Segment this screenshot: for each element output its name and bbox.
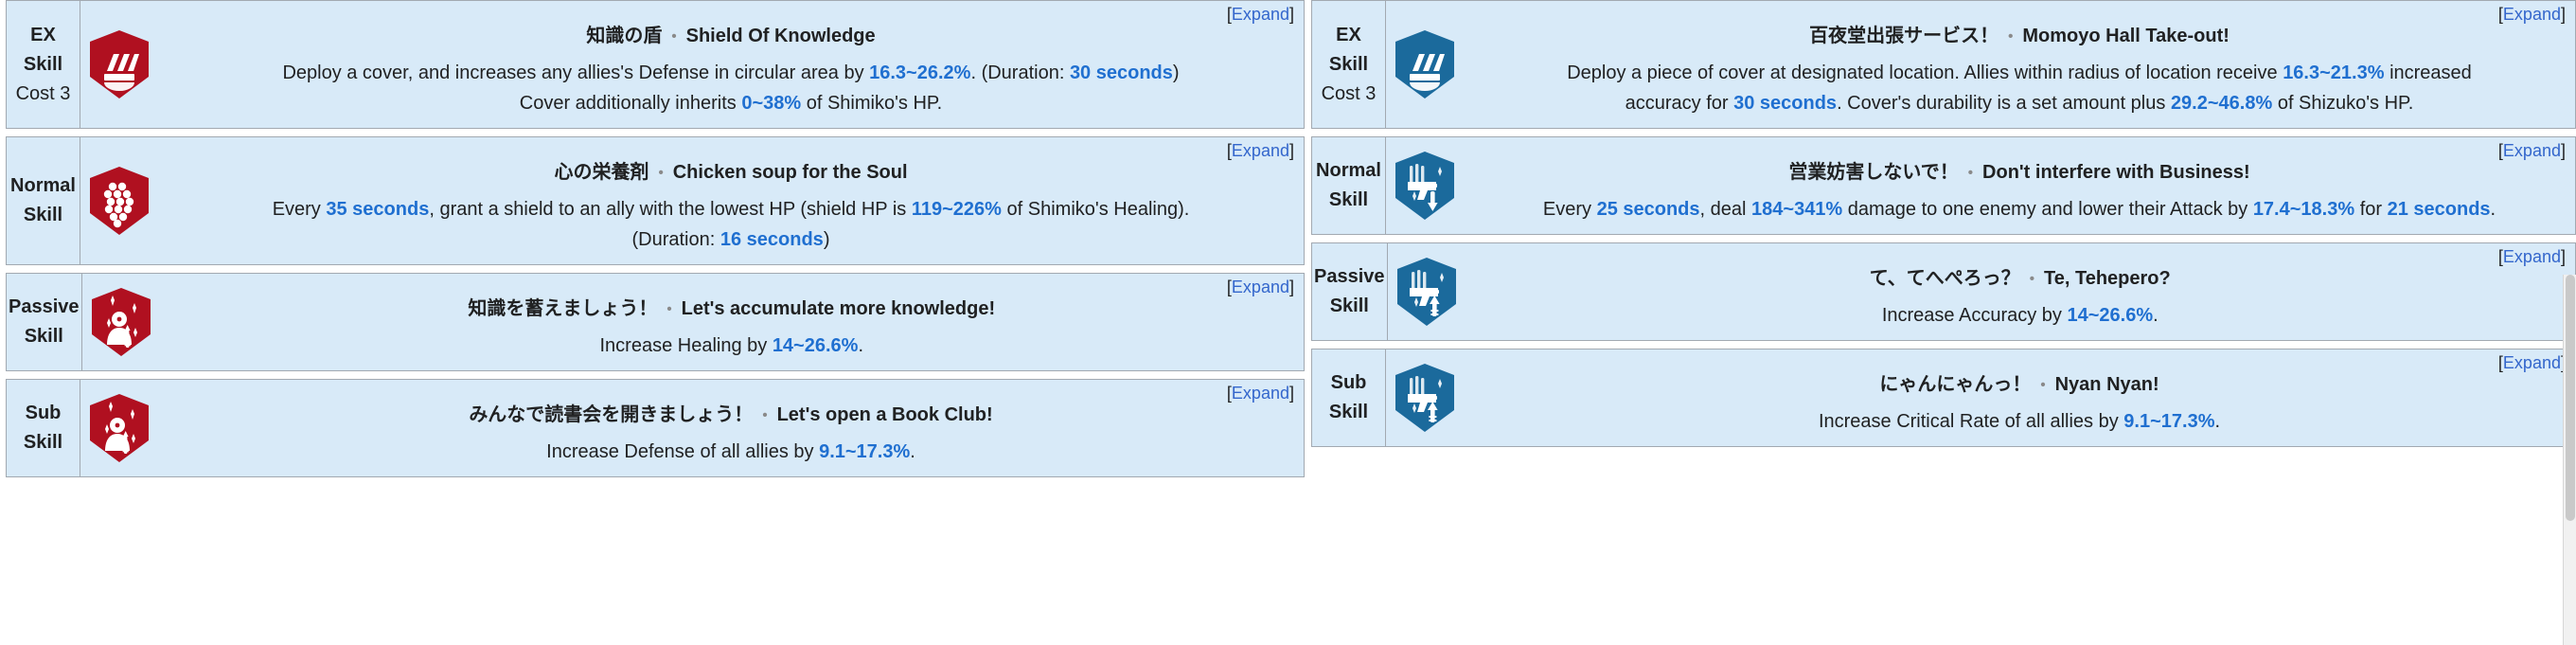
expand-toggle[interactable]: [Expand]	[1227, 278, 1294, 297]
skill-description: Increase Critical Rate of all allies by …	[1819, 406, 2220, 437]
skill-icon-cell	[1386, 137, 1464, 234]
highlight-value: 9.1~17.3%	[2123, 411, 2214, 432]
hex-gun-up-icon	[1395, 257, 1458, 327]
skill-kind-label: EX Skill	[9, 21, 78, 80]
hex-person-sparkle-icon	[88, 393, 151, 463]
desc-text: Increase Healing by	[599, 335, 772, 356]
desc-text: )	[824, 229, 830, 250]
skill-row: Sub Skill[Expand]にゃんにゃんっ！•Nyan Nyan!Incr…	[1311, 349, 2576, 447]
desc-text: , deal	[1700, 199, 1751, 220]
title-separator-dot: •	[1999, 28, 2022, 45]
highlight-value: 25 seconds	[1597, 199, 1700, 220]
title-separator-dot: •	[2020, 271, 2044, 287]
skill-icon-cell	[80, 380, 158, 476]
skill-icon-cell	[82, 274, 160, 370]
skill-title-jp: て、てへぺろっ？	[1870, 268, 2020, 289]
skill-panel-shizuko: EX SkillCost 3[Expand]百夜堂出張サービス！•Momoyo …	[1311, 0, 2576, 455]
skill-body: [Expand]にゃんにゃんっ！•Nyan Nyan!Increase Crit…	[1464, 349, 2575, 446]
skill-description: Deploy a piece of cover at designated lo…	[1567, 58, 2472, 118]
desc-text: . Cover's durability is a set amount plu…	[1837, 93, 2171, 114]
expand-link-text[interactable]: Expand	[1232, 5, 1289, 24]
skill-table-page: EX SkillCost 3[Expand]知識の盾•Shield Of Kno…	[0, 0, 2576, 645]
title-separator-dot: •	[1959, 165, 1982, 181]
expand-link-text[interactable]: Expand	[2503, 353, 2561, 372]
expand-link-text[interactable]: Expand	[1232, 384, 1289, 403]
skill-description: Increase Defense of all allies by 9.1~17…	[546, 437, 915, 467]
hex-bubbles-icon	[88, 166, 151, 236]
skill-row: Normal Skill[Expand]営業妨害しないで！•Don't inte…	[1311, 136, 2576, 235]
skill-description: Increase Accuracy by 14~26.6%.	[1882, 300, 2159, 331]
skill-icon-cell	[80, 137, 158, 264]
desc-text: Every	[1543, 199, 1597, 220]
desc-text: increased	[2385, 63, 2472, 83]
desc-text: , grant a shield to an ally with the low…	[429, 199, 912, 220]
skill-kind-cell: Normal Skill	[1312, 137, 1386, 234]
highlight-value: 0~38%	[741, 93, 801, 114]
desc-text: accuracy for	[1626, 93, 1733, 114]
skill-kind-label: Sub Skill	[9, 399, 78, 457]
skill-title-en: Nyan Nyan!	[2055, 374, 2159, 395]
desc-text: Increase Critical Rate of all allies by	[1819, 411, 2123, 432]
expand-toggle[interactable]: [Expand]	[2498, 141, 2566, 161]
skill-kind-label: EX Skill	[1314, 21, 1383, 80]
skill-kind-cell: Normal Skill	[7, 137, 80, 264]
skill-kind-cell: Sub Skill	[1312, 349, 1386, 446]
skill-title: みんなで読書会を開きましょう！•Let's open a Book Club!	[469, 403, 992, 428]
skill-icon-cell	[1388, 243, 1466, 340]
skill-panels: EX SkillCost 3[Expand]知識の盾•Shield Of Kno…	[0, 0, 2576, 485]
skill-row: Passive Skill[Expand]て、てへぺろっ？•Te, Tehepe…	[1311, 242, 2576, 341]
skill-description-line: (Duration: 16 seconds)	[273, 224, 1190, 255]
highlight-value: 17.4~18.3%	[2253, 199, 2354, 220]
skill-cost-label: Cost 3	[1322, 80, 1377, 109]
skill-title: 知識の盾•Shield Of Knowledge	[586, 24, 875, 49]
desc-text: of Shimiko's HP.	[801, 93, 942, 114]
skill-description-line: Every 25 seconds, deal 184~341% damage t…	[1543, 194, 2496, 224]
skill-title-en: Te, Tehepero?	[2044, 268, 2171, 289]
skill-description-line: Increase Defense of all allies by 9.1~17…	[546, 437, 915, 467]
skill-description-line: Deploy a piece of cover at designated lo…	[1567, 58, 2472, 88]
skill-kind-label: Passive Skill	[9, 293, 80, 351]
skill-kind-label: Normal Skill	[10, 171, 76, 230]
skill-icon-cell	[80, 1, 158, 128]
hex-person-sparkle-icon	[90, 287, 152, 357]
skill-kind-label: Passive Skill	[1314, 262, 1385, 321]
skill-icon-cell	[1386, 1, 1464, 128]
skill-title-en: Momoyo Hall Take-out!	[2022, 26, 2230, 46]
title-separator-dot: •	[657, 301, 681, 317]
skill-title: て、てへぺろっ？•Te, Tehepero?	[1870, 266, 2171, 292]
highlight-value: 35 seconds	[326, 199, 429, 220]
skill-body: [Expand]心の栄養剤•Chicken soup for the SoulE…	[158, 137, 1304, 264]
expand-toggle[interactable]: [Expand]	[2498, 353, 2566, 373]
skill-description: Increase Healing by 14~26.6%.	[599, 331, 863, 361]
expand-toggle[interactable]: [Expand]	[2498, 247, 2566, 267]
expand-toggle[interactable]: [Expand]	[1227, 5, 1294, 25]
title-separator-dot: •	[648, 165, 672, 181]
expand-link-text[interactable]: Expand	[1232, 141, 1289, 160]
desc-text: )	[1173, 63, 1180, 83]
skill-row: EX SkillCost 3[Expand]知識の盾•Shield Of Kno…	[6, 0, 1305, 129]
skill-title: 百夜堂出張サービス！•Momoyo Hall Take-out!	[1809, 24, 2230, 49]
highlight-value: 29.2~46.8%	[2171, 93, 2272, 114]
skill-description: Deploy a cover, and increases any allies…	[282, 58, 1179, 118]
desc-text: . (Duration:	[970, 63, 1069, 83]
skill-description: Every 35 seconds, grant a shield to an a…	[273, 194, 1190, 255]
skill-title-jp: にゃんにゃんっ！	[1879, 374, 2031, 395]
title-separator-dot: •	[753, 407, 776, 423]
skill-kind-cell: Sub Skill	[7, 380, 80, 476]
expand-link-text[interactable]: Expand	[1232, 278, 1289, 296]
skill-title: 心の栄養剤•Chicken soup for the Soul	[554, 160, 907, 186]
skill-description-line: Cover additionally inherits 0~38% of Shi…	[282, 88, 1179, 118]
desc-text: .	[858, 335, 863, 356]
skill-description-line: Increase Critical Rate of all allies by …	[1819, 406, 2220, 437]
highlight-value: 16 seconds	[720, 229, 824, 250]
hex-shield-stripes-icon	[88, 29, 151, 99]
skill-title-jp: 百夜堂出張サービス！	[1809, 26, 1999, 46]
highlight-value: 16.3~21.3%	[2283, 63, 2384, 83]
desc-text: .	[910, 441, 915, 462]
skill-title-jp: 心の栄養剤	[554, 162, 648, 183]
hex-gun-down-icon	[1394, 151, 1456, 221]
title-separator-dot: •	[662, 28, 685, 45]
desc-text: Every	[273, 199, 327, 220]
desc-text: of Shimiko's Healing).	[1002, 199, 1189, 220]
expand-toggle[interactable]: [Expand]	[2498, 5, 2566, 25]
skill-title-jp: みんなで読書会を開きましょう！	[469, 404, 753, 425]
skill-cost-label: Cost 3	[16, 80, 71, 109]
highlight-value: 30 seconds	[1733, 93, 1837, 114]
expand-toggle[interactable]: [Expand]	[1227, 384, 1294, 403]
skill-body: [Expand]知識の盾•Shield Of KnowledgeDeploy a…	[158, 1, 1304, 128]
skill-description-line: Deploy a cover, and increases any allies…	[282, 58, 1179, 88]
skill-body: [Expand]て、てへぺろっ？•Te, Tehepero?Increase A…	[1466, 243, 2575, 340]
expand-link-text[interactable]: Expand	[2503, 5, 2561, 24]
highlight-value: 30 seconds	[1070, 63, 1173, 83]
skill-title: 知識を蓄えましょう！•Let's accumulate more knowled…	[468, 296, 995, 322]
skill-description: Every 25 seconds, deal 184~341% damage t…	[1543, 194, 2496, 224]
skill-body: [Expand]営業妨害しないで！•Don't interfere with B…	[1464, 137, 2575, 234]
skill-body: [Expand]百夜堂出張サービス！•Momoyo Hall Take-out!…	[1464, 1, 2575, 128]
skill-title-en: Shield Of Knowledge	[686, 26, 876, 46]
expand-link-text[interactable]: Expand	[2503, 141, 2561, 160]
skill-body: [Expand]知識を蓄えましょう！•Let's accumulate more…	[160, 274, 1304, 370]
highlight-value: 14~26.6%	[2067, 305, 2153, 326]
skill-kind-cell: Passive Skill	[1312, 243, 1388, 340]
desc-text: of Shizuko's HP.	[2272, 93, 2413, 114]
skill-title: 営業妨害しないで！•Don't interfere with Business!	[1788, 160, 2249, 186]
skill-description-line: accuracy for 30 seconds. Cover's durabil…	[1567, 88, 2472, 118]
desc-text: Deploy a cover, and increases any allies…	[282, 63, 869, 83]
skill-body: [Expand]みんなで読書会を開きましょう！•Let's open a Boo…	[158, 380, 1304, 476]
title-separator-dot: •	[2031, 377, 2054, 393]
desc-text: .	[2491, 199, 2496, 220]
desc-text: Increase Defense of all allies by	[546, 441, 819, 462]
skill-title-jp: 営業妨害しないで！	[1788, 162, 1958, 183]
desc-text: for	[2354, 199, 2387, 220]
skill-row: Sub Skill[Expand]みんなで読書会を開きましょう！•Let's o…	[6, 379, 1305, 477]
desc-text: Cover additionally inherits	[520, 93, 742, 114]
hex-shield-stripes-icon	[1394, 29, 1456, 99]
skill-title-en: Let's accumulate more knowledge!	[682, 298, 996, 319]
highlight-value: 184~341%	[1751, 199, 1842, 220]
skill-row: EX SkillCost 3[Expand]百夜堂出張サービス！•Momoyo …	[1311, 0, 2576, 129]
skill-kind-cell: Passive Skill	[7, 274, 82, 370]
skill-title-jp: 知識の盾	[586, 26, 662, 46]
expand-toggle[interactable]: [Expand]	[1227, 141, 1294, 161]
skill-description-line: Increase Accuracy by 14~26.6%.	[1882, 300, 2159, 331]
highlight-value: 119~226%	[912, 199, 1002, 220]
skill-description-line: Increase Healing by 14~26.6%.	[599, 331, 863, 361]
skill-description-line: Every 35 seconds, grant a shield to an a…	[273, 194, 1190, 224]
skill-kind-label: Normal Skill	[1316, 156, 1381, 215]
skill-kind-label: Sub Skill	[1314, 368, 1383, 427]
skill-title-en: Chicken soup for the Soul	[673, 162, 908, 183]
skill-title-en: Let's open a Book Club!	[777, 404, 993, 425]
skill-panel-shimiko: EX SkillCost 3[Expand]知識の盾•Shield Of Kno…	[0, 0, 1305, 485]
skill-kind-cell: EX SkillCost 3	[1312, 1, 1386, 128]
page-scrollbar[interactable]	[2563, 275, 2576, 645]
hex-gun-up-icon	[1394, 363, 1456, 433]
scrollbar-thumb[interactable]	[2566, 275, 2575, 521]
desc-text: Deploy a piece of cover at designated lo…	[1567, 63, 2283, 83]
highlight-value: 16.3~26.2%	[869, 63, 970, 83]
desc-text: damage to one enemy and lower their Atta…	[1842, 199, 2253, 220]
skill-title-jp: 知識を蓄えましょう！	[468, 298, 657, 319]
skill-row: Normal Skill[Expand]心の栄養剤•Chicken soup f…	[6, 136, 1305, 265]
skill-row: Passive Skill[Expand]知識を蓄えましょう！•Let's ac…	[6, 273, 1305, 371]
expand-link-text[interactable]: Expand	[2503, 247, 2561, 266]
desc-text: .	[2215, 411, 2221, 432]
desc-text: (Duration:	[631, 229, 720, 250]
highlight-value: 21 seconds	[2388, 199, 2491, 220]
desc-text: .	[2153, 305, 2159, 326]
skill-kind-cell: EX SkillCost 3	[7, 1, 80, 128]
skill-title-en: Don't interfere with Business!	[1982, 162, 2250, 183]
highlight-value: 9.1~17.3%	[819, 441, 910, 462]
skill-icon-cell	[1386, 349, 1464, 446]
highlight-value: 14~26.6%	[773, 335, 859, 356]
desc-text: Increase Accuracy by	[1882, 305, 2068, 326]
skill-title: にゃんにゃんっ！•Nyan Nyan!	[1879, 372, 2159, 398]
